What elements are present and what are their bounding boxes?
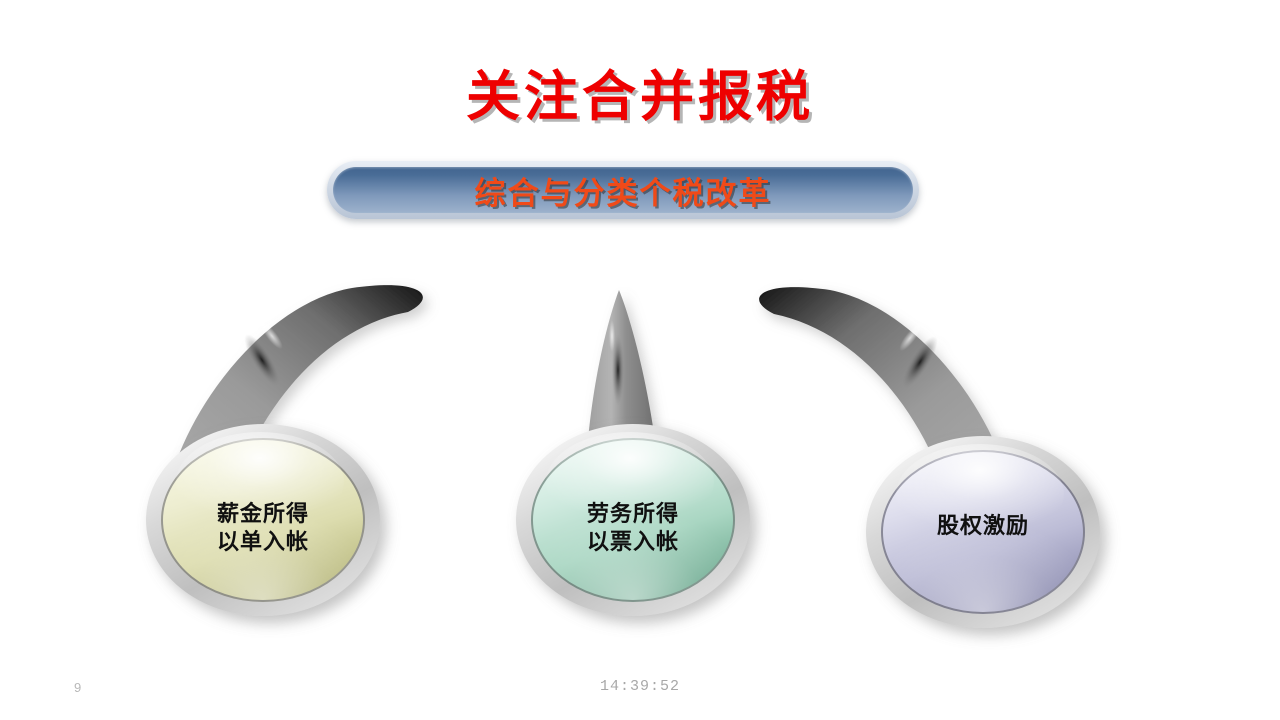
node-bubble-3[interactable] bbox=[866, 436, 1100, 628]
slide-canvas: 关注合并报税 综合与分类个税改革 bbox=[0, 0, 1280, 720]
sprout-diagram bbox=[0, 250, 1280, 650]
page-title: 关注合并报税 bbox=[0, 52, 1280, 131]
node-bubble-1[interactable] bbox=[146, 424, 380, 616]
banner-pill: 综合与分类个税改革 bbox=[327, 161, 919, 219]
footer-timestamp: 14:39:52 bbox=[0, 678, 1280, 695]
node-bubble-2[interactable] bbox=[516, 424, 750, 616]
banner-pill-inner: 综合与分类个税改革 bbox=[333, 167, 913, 213]
banner-label: 综合与分类个税改革 bbox=[475, 168, 772, 213]
